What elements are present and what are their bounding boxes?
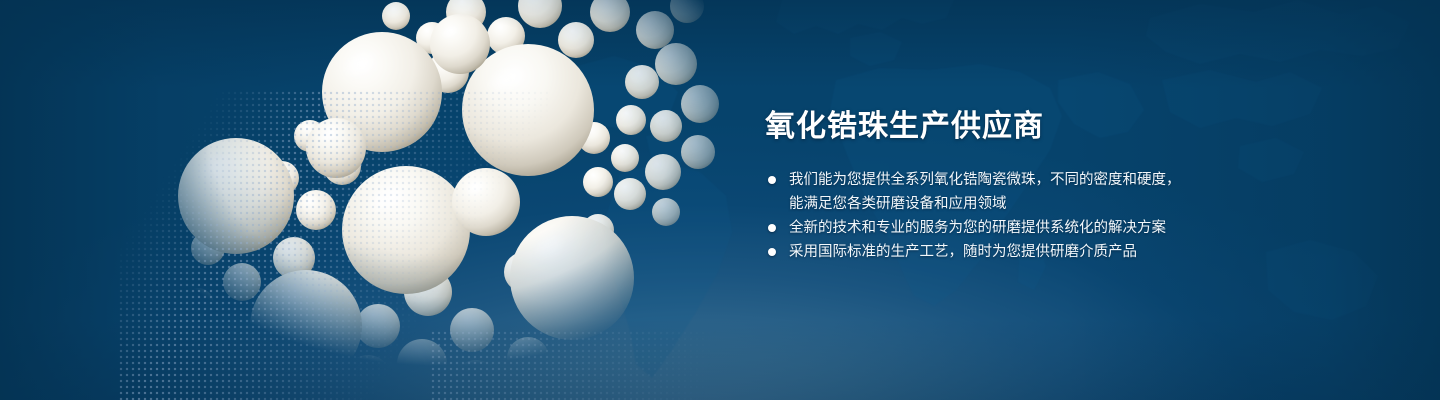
bullet-line: 我们能为您提供全系列氧化锆陶瓷微珠，不同的密度和硬度， (789, 168, 1225, 192)
list-item: 采用国际标准的生产工艺，随时为您提供研磨介质产品 (765, 240, 1225, 264)
list-item: 我们能为您提供全系列氧化锆陶瓷微珠，不同的密度和硬度， 能满足您各类研磨设备和应… (765, 168, 1225, 216)
banner-copy: 氧化锆珠生产供应商 我们能为您提供全系列氧化锆陶瓷微珠，不同的密度和硬度， 能满… (765, 108, 1225, 264)
bullet-dot-icon (768, 248, 776, 256)
feature-bullet-list: 我们能为您提供全系列氧化锆陶瓷微珠，不同的密度和硬度， 能满足您各类研磨设备和应… (765, 168, 1225, 264)
bullet-dot-icon (768, 176, 776, 184)
bullet-line: 全新的技术和专业的服务为您的研磨提供系统化的解决方案 (789, 216, 1225, 240)
bullet-line: 采用国际标准的生产工艺，随时为您提供研磨介质产品 (789, 240, 1225, 264)
bullet-dot-icon (768, 224, 776, 232)
zirconia-beads-photo (110, 0, 720, 400)
hero-banner: 氧化锆珠生产供应商 我们能为您提供全系列氧化锆陶瓷微珠，不同的密度和硬度， 能满… (0, 0, 1440, 400)
bullet-line: 能满足您各类研磨设备和应用领域 (789, 192, 1225, 216)
list-item: 全新的技术和专业的服务为您的研磨提供系统化的解决方案 (765, 216, 1225, 240)
page-title: 氧化锆珠生产供应商 (765, 108, 1225, 146)
